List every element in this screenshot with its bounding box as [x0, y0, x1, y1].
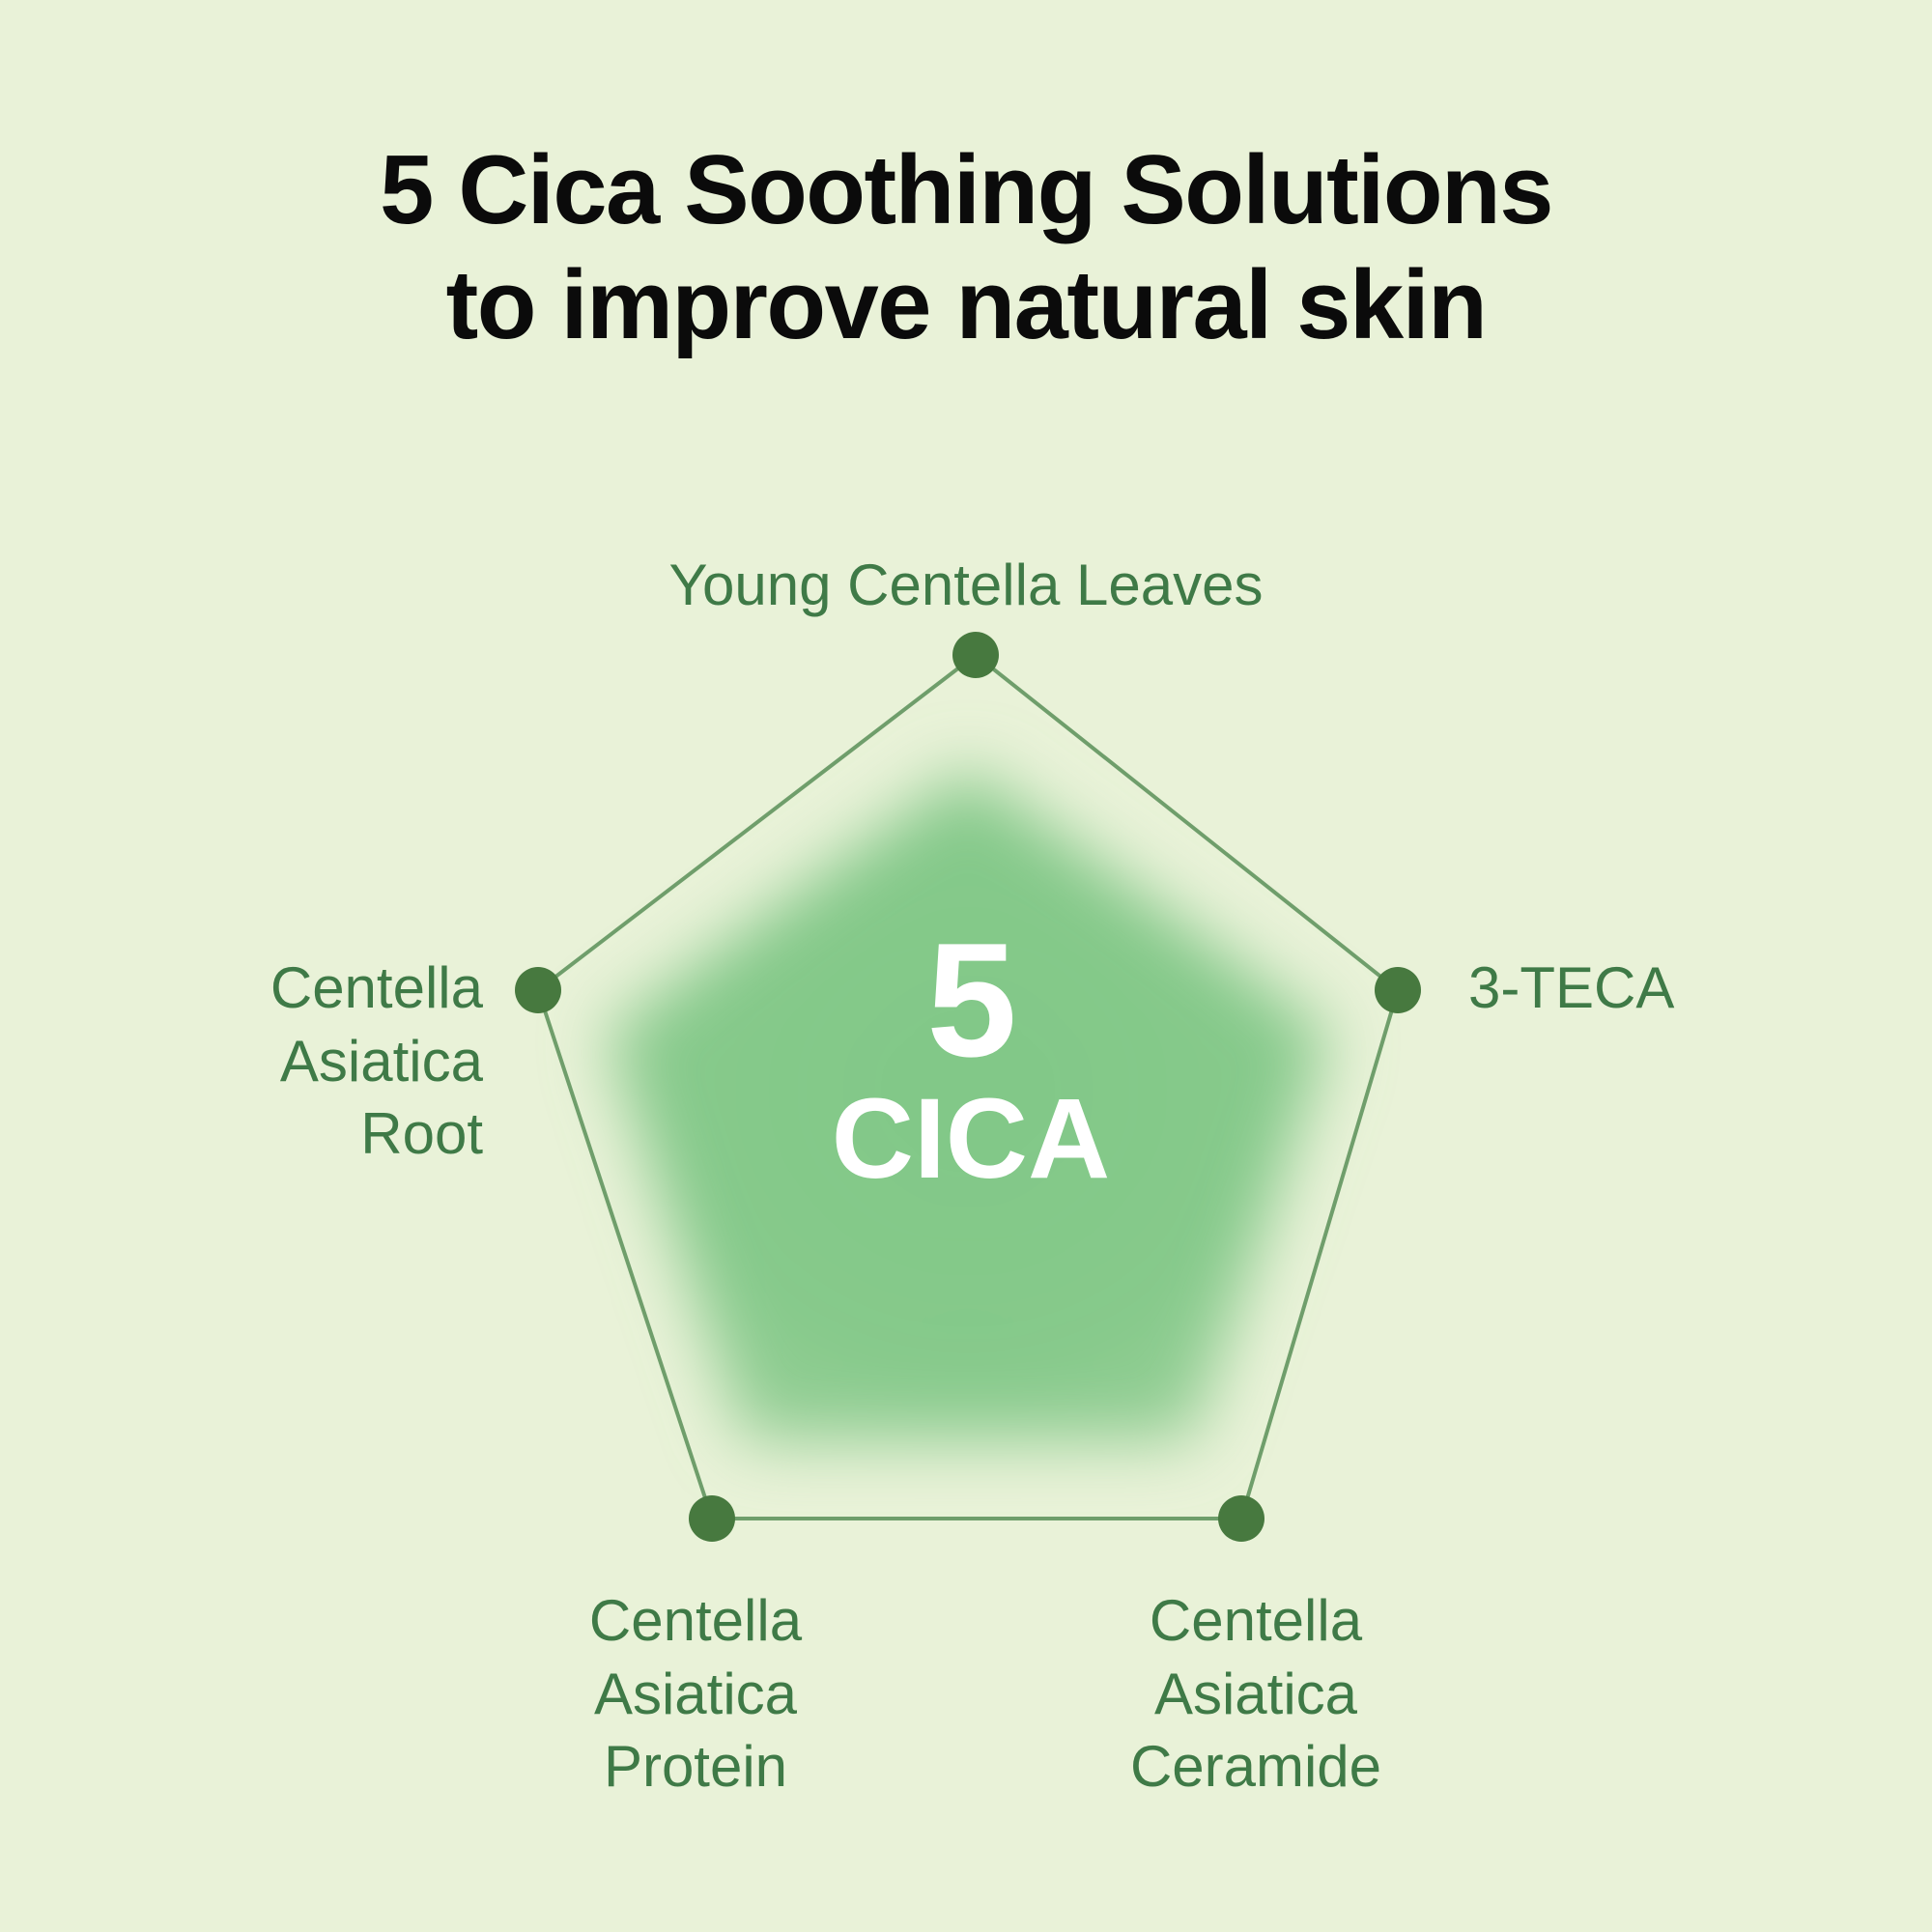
vertex-dot-young-centella-leaves[interactable]	[952, 632, 999, 678]
axis-label-centella-asiatica-root: Centella Asiatica Root	[87, 952, 483, 1171]
vertex-dot-centella-asiatica-root[interactable]	[515, 967, 561, 1013]
radar-area-fill	[605, 768, 1331, 1441]
axis-label-3-teca: 3-TECA	[1468, 952, 1874, 1025]
vertex-dot-centella-asiatica-ceramide[interactable]	[1218, 1495, 1264, 1542]
vertex-dot-3-teca[interactable]	[1375, 967, 1421, 1013]
axis-label-young-centella-leaves: Young Centella Leaves	[0, 549, 1932, 622]
vertex-dot-centella-asiatica-protein[interactable]	[689, 1495, 735, 1542]
infographic-canvas: 5 Cica Soothing Solutions to improve nat…	[0, 0, 1932, 1932]
axis-label-centella-asiatica-protein: Centella Asiatica Protein	[493, 1584, 898, 1804]
axis-label-centella-asiatica-ceramide: Centella Asiatica Ceramide	[1053, 1584, 1459, 1804]
